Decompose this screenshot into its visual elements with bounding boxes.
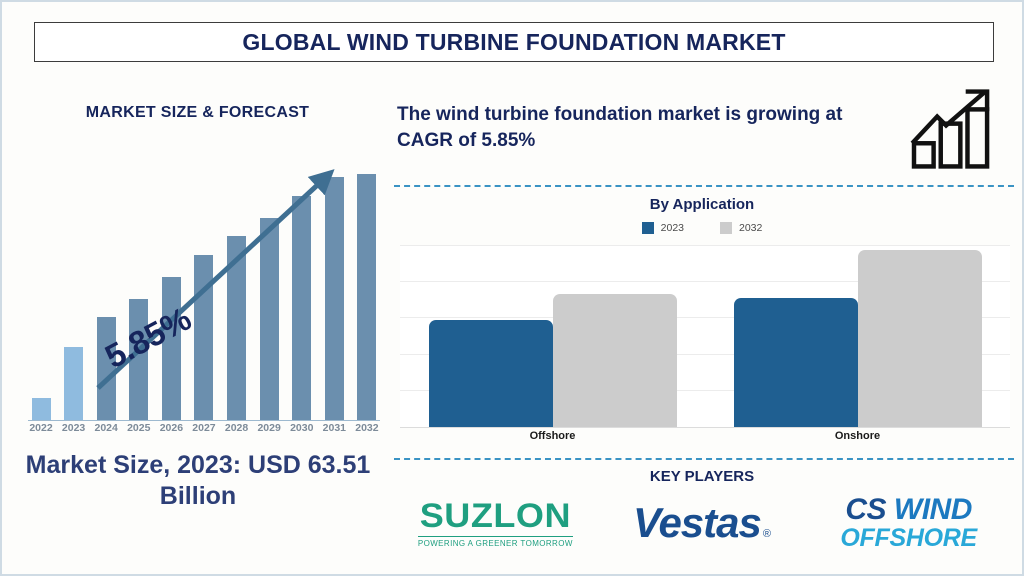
forecast-year-label: 2029: [256, 422, 282, 442]
forecast-bar-2027: [191, 150, 217, 420]
by-application-baseline: [400, 427, 1010, 428]
forecast-bar-series: [28, 150, 380, 420]
divider-bottom: [394, 458, 1014, 460]
by-application-category-labels: OffshoreOnshore: [400, 430, 1010, 442]
market-size-forecast-panel: MARKET SIZE & FORECAST 20222023202420252…: [10, 80, 385, 566]
forecast-bar: [357, 174, 376, 420]
forecast-bar: [292, 196, 311, 420]
bar-offshore-2023: [429, 320, 553, 427]
logo-suzlon-name: SUZLON: [420, 499, 571, 533]
forecast-bar: [64, 347, 83, 420]
forecast-year-label: 2023: [61, 422, 87, 442]
forecast-axis-line: [28, 420, 380, 422]
forecast-bar: [325, 177, 344, 420]
logo-cswind-wind: WIND: [894, 493, 972, 526]
logo-suzlon-tagline: POWERING A GREENER TOMORROW: [418, 536, 573, 548]
category-label-offshore: Offshore: [419, 430, 687, 442]
legend-swatch-icon: [720, 222, 732, 234]
logo-cswind-cs: CS: [845, 493, 886, 526]
forecast-year-label: 2028: [224, 422, 250, 442]
forecast-year-label: 2026: [158, 422, 184, 442]
bar-onshore-2032: [858, 250, 982, 427]
forecast-bar-2025: [126, 150, 152, 420]
bar-group-onshore: [724, 245, 992, 427]
forecast-bar-2026: [158, 150, 184, 420]
logo-vestas-name: Vestas: [633, 502, 761, 544]
category-label-onshore: Onshore: [724, 430, 992, 442]
infographic-canvas: GLOBAL WIND TURBINE FOUNDATION MARKET MA…: [0, 0, 1024, 576]
legend-label: 2023: [661, 222, 684, 234]
forecast-bar-2031: [321, 150, 347, 420]
growth-arrow-icon: [910, 88, 1000, 170]
market-size-value: Market Size, 2023: USD 63.51 Billion: [18, 450, 378, 511]
forecast-bar: [227, 236, 246, 420]
forecast-bar-2032: [354, 150, 380, 420]
divider-top: [394, 185, 1014, 187]
key-players-heading: KEY PLAYERS: [392, 468, 1012, 485]
logo-suzlon: SUZLON POWERING A GREENER TOMORROW: [395, 499, 595, 548]
forecast-year-label: 2024: [93, 422, 119, 442]
key-players-logos: SUZLON POWERING A GREENER TOMORROW Vesta…: [392, 488, 1012, 558]
logo-cswind-line1: CS WIND: [845, 495, 972, 525]
legend-item-2032[interactable]: 2032: [720, 222, 762, 234]
forecast-year-labels: 2022202320242025202620272028202920302031…: [28, 422, 380, 442]
by-application-chart: [400, 245, 1010, 427]
forecast-bar: [194, 255, 213, 420]
forecast-bar: [260, 218, 279, 421]
forecast-year-label: 2027: [191, 422, 217, 442]
page-title-box: GLOBAL WIND TURBINE FOUNDATION MARKET: [34, 22, 994, 62]
by-application-bar-groups: [400, 245, 1010, 427]
forecast-bar-2024: [93, 150, 119, 420]
forecast-bar-2028: [224, 150, 250, 420]
by-application-legend: 20232032: [392, 222, 1012, 234]
forecast-bar-2029: [256, 150, 282, 420]
registered-trademark-icon: ®: [763, 528, 771, 540]
legend-item-2023[interactable]: 2023: [642, 222, 684, 234]
forecast-year-label: 2031: [321, 422, 347, 442]
forecast-year-label: 2022: [28, 422, 54, 442]
forecast-year-label: 2032: [354, 422, 380, 442]
by-application-heading: By Application: [392, 196, 1012, 213]
logo-vestas-wrap: Vestas ®: [633, 502, 771, 544]
bar-offshore-2032: [553, 294, 677, 427]
legend-label: 2032: [739, 222, 762, 234]
legend-swatch-icon: [642, 222, 654, 234]
bar-group-offshore: [419, 245, 687, 427]
logo-cswind-offshore-word: OFFSHORE: [840, 525, 977, 551]
forecast-bar-2023: [61, 150, 87, 420]
page-title: GLOBAL WIND TURBINE FOUNDATION MARKET: [242, 29, 785, 56]
forecast-year-label: 2030: [289, 422, 315, 442]
forecast-bar-2022: [28, 150, 54, 420]
logo-cswind-offshore: CS WIND OFFSHORE: [809, 495, 1009, 551]
market-size-forecast-heading: MARKET SIZE & FORECAST: [10, 104, 385, 122]
forecast-year-label: 2025: [126, 422, 152, 442]
cagr-statement: The wind turbine foundation market is gr…: [397, 102, 857, 154]
logo-vestas: Vestas ®: [602, 502, 802, 544]
right-panel: The wind turbine foundation market is gr…: [392, 80, 1018, 566]
market-size-forecast-chart: 2022202320242025202620272028202920302031…: [20, 142, 382, 442]
forecast-bar: [32, 398, 51, 420]
forecast-bar-2030: [289, 150, 315, 420]
bar-onshore-2023: [734, 298, 858, 427]
